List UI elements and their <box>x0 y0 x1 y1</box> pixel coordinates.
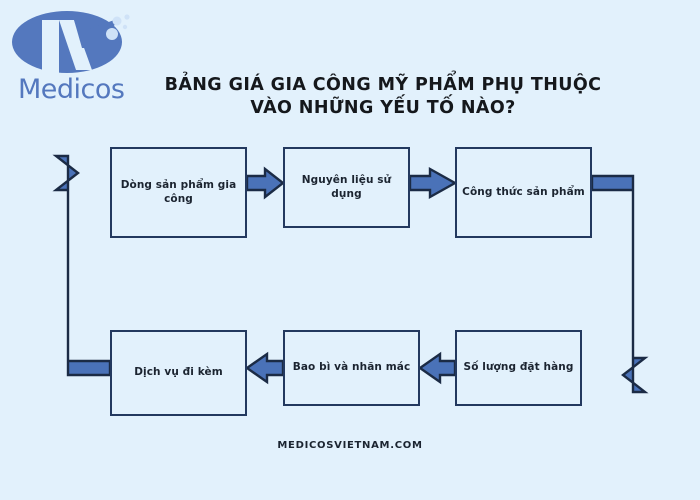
flow-node-label: Bao bì và nhãn mác <box>289 361 415 374</box>
flow-node-packaging-labels[interactable]: Bao bì và nhãn mác <box>283 330 420 406</box>
flow-node-formula[interactable]: Công thức sản phẩm <box>455 147 592 238</box>
connector-n1-to-n2 <box>247 169 283 197</box>
medicos-m-ellipse-logo-icon <box>12 8 142 80</box>
infographic-canvas: Medicos BẢNG GIÁ GIA CÔNG MỸ PHẨM PHỤ TH… <box>0 0 700 500</box>
connector-n4-to-n5 <box>420 354 455 382</box>
connector-n6-to-n1 <box>56 156 110 375</box>
flow-node-added-services[interactable]: Dịch vụ đi kèm <box>110 330 247 416</box>
flow-node-label: Số lượng đặt hàng <box>460 361 578 374</box>
page-title: BẢNG GIÁ GIA CÔNG MỸ PHẨM PHỤ THUỘC VÀO … <box>148 74 618 121</box>
flow-node-order-quantity[interactable]: Số lượng đặt hàng <box>455 330 582 406</box>
footer-website: MEDICOSVIETNAM.COM <box>0 440 700 451</box>
flow-node-raw-materials[interactable]: Nguyên liệu sử dụng <box>283 147 410 228</box>
flow-node-label: Dịch vụ đi kèm <box>130 366 227 379</box>
connector-n3-to-n4 <box>592 176 645 392</box>
flow-node-product-line[interactable]: Dòng sản phẩm gia công <box>110 147 247 238</box>
brand-logo: Medicos <box>12 8 152 113</box>
brand-wordmark: Medicos <box>18 74 148 105</box>
flow-node-label: Dòng sản phẩm gia công <box>112 179 245 205</box>
connector-n2-to-n3 <box>410 169 455 197</box>
flow-node-label: Công thức sản phẩm <box>458 186 589 199</box>
connector-n5-to-n6 <box>247 354 283 382</box>
flow-node-label: Nguyên liệu sử dụng <box>285 174 408 200</box>
